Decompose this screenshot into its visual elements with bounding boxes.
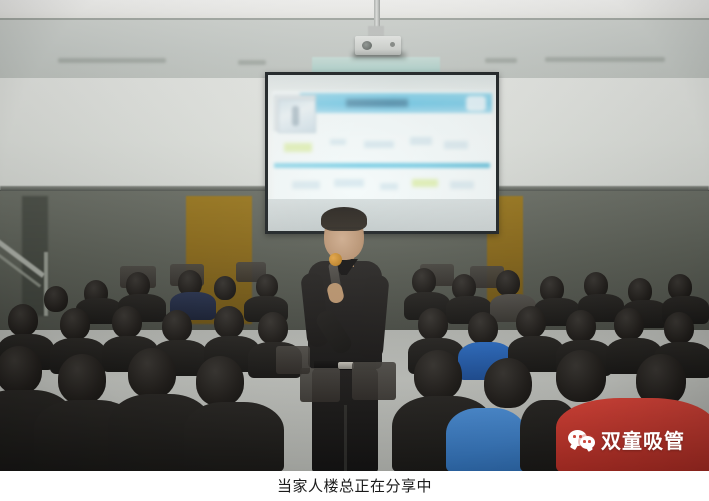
ceiling-vent [485, 58, 517, 63]
audience-head [214, 306, 244, 338]
projector-lens [362, 41, 372, 50]
audience-head [484, 358, 532, 408]
audience-head [60, 308, 90, 340]
audience-head [566, 310, 596, 342]
audience-body [446, 408, 526, 471]
wechat-dot [588, 440, 591, 443]
slide-cell [410, 137, 432, 145]
audience-head [256, 274, 278, 298]
audience-head [412, 268, 436, 294]
wechat-dot [573, 435, 576, 438]
projector-knob [390, 42, 395, 47]
photo-caption: 当家人楼总正在分享中 [277, 479, 432, 494]
conference-photo: 双童吸管 [0, 0, 709, 471]
ceiling-projector [355, 36, 401, 55]
caption-bar: 当家人楼总正在分享中 [0, 471, 709, 501]
ceiling-white-band [0, 0, 709, 20]
slide-cell [334, 179, 364, 187]
audience-head [556, 350, 606, 402]
audience-head [414, 350, 462, 400]
slide-cell [364, 141, 394, 148]
slide-cell-highlight [412, 179, 438, 187]
watermark-text: 双童吸管 [601, 431, 685, 451]
slide-cell [292, 181, 320, 189]
audience-head [468, 312, 498, 344]
audience-head [664, 312, 694, 344]
screenshot-root: 双童吸管 当家人楼总正在分享中 [0, 0, 709, 501]
audience-head [44, 286, 68, 312]
audience-head [614, 308, 644, 340]
speaker-glasses [326, 227, 362, 235]
wechat-icon [568, 430, 595, 452]
slide-cell [450, 181, 474, 189]
slide-cell [380, 183, 398, 190]
audience-head [516, 306, 546, 338]
audience-body [184, 402, 284, 471]
audience-head [196, 356, 244, 406]
slide-cell-highlight [284, 143, 312, 152]
chair-back [276, 346, 310, 374]
audience-head [214, 276, 236, 300]
ceiling-vent [545, 57, 665, 62]
audience-head [496, 270, 520, 296]
ceiling-vent [238, 60, 266, 65]
slide-content-area [272, 91, 492, 203]
audience-head [112, 306, 142, 338]
presentation-slide [272, 91, 492, 203]
slide-divider-bar [274, 163, 490, 168]
slide-cell [330, 139, 346, 145]
audience-head [418, 308, 448, 340]
audience-head [258, 312, 288, 344]
wechat-dot [583, 440, 586, 443]
wechat-watermark: 双童吸管 [568, 430, 685, 452]
ceiling-vent [58, 58, 166, 63]
chair-back [352, 362, 396, 400]
slide-cell [444, 141, 468, 149]
audience-head [162, 310, 192, 342]
ceiling-seam-line [0, 18, 709, 20]
audience-head [0, 346, 42, 394]
audience-head [128, 348, 176, 398]
audience-head [8, 304, 38, 336]
wechat-dot [579, 435, 582, 438]
audience-head [58, 354, 106, 404]
